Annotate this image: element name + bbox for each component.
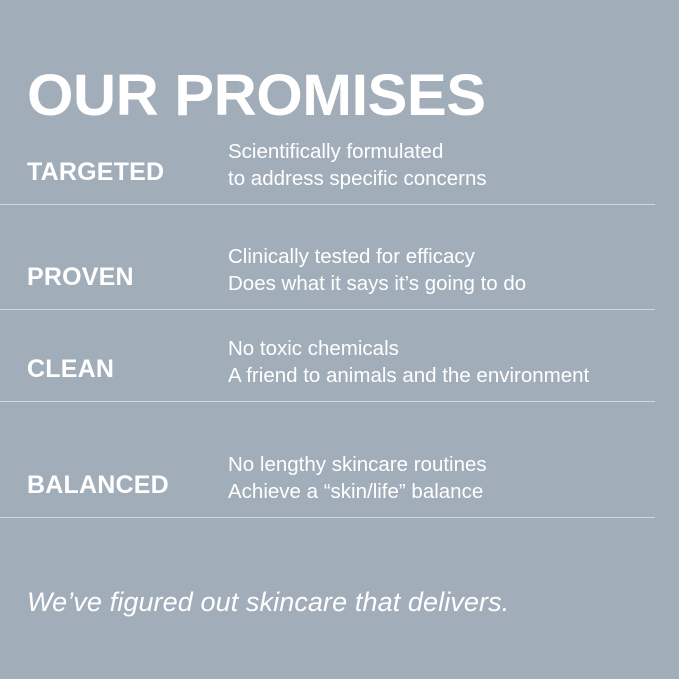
- promise-row: PROVEN Clinically tested for efficacy Do…: [0, 205, 655, 310]
- promise-description: No lengthy skincare routines Achieve a “…: [228, 451, 631, 517]
- promise-description-line: No lengthy skincare routines: [228, 451, 631, 478]
- promise-description-line: Does what it says it’s going to do: [228, 270, 631, 297]
- promise-description-line: to address specific concerns: [228, 165, 631, 192]
- promise-label: CLEAN: [27, 357, 228, 401]
- promise-description: Scientifically formulated to address spe…: [228, 138, 631, 204]
- promise-description-line: Clinically tested for efficacy: [228, 243, 631, 270]
- promise-label: PROVEN: [27, 265, 228, 309]
- promise-description: Clinically tested for efficacy Does what…: [228, 243, 631, 309]
- promises-page: OUR PROMISES TARGETED Scientifically for…: [0, 0, 679, 679]
- promise-description-line: No toxic chemicals: [228, 335, 631, 362]
- promise-list: TARGETED Scientifically formulated to ad…: [0, 124, 679, 518]
- promise-row: CLEAN No toxic chemicals A friend to ani…: [0, 310, 655, 402]
- footer-tagline: We’ve figured out skincare that delivers…: [27, 586, 509, 618]
- promise-description-line: Achieve a “skin/life” balance: [228, 478, 631, 505]
- promise-description-line: Scientifically formulated: [228, 138, 631, 165]
- promise-label: BALANCED: [27, 473, 228, 517]
- promise-row: BALANCED No lengthy skincare routines Ac…: [0, 402, 655, 518]
- page-title: OUR PROMISES: [27, 67, 486, 125]
- promise-label: TARGETED: [27, 160, 228, 204]
- promise-description: No toxic chemicals A friend to animals a…: [228, 335, 631, 401]
- promise-row: TARGETED Scientifically formulated to ad…: [0, 124, 655, 205]
- promise-description-line: A friend to animals and the environment: [228, 362, 631, 389]
